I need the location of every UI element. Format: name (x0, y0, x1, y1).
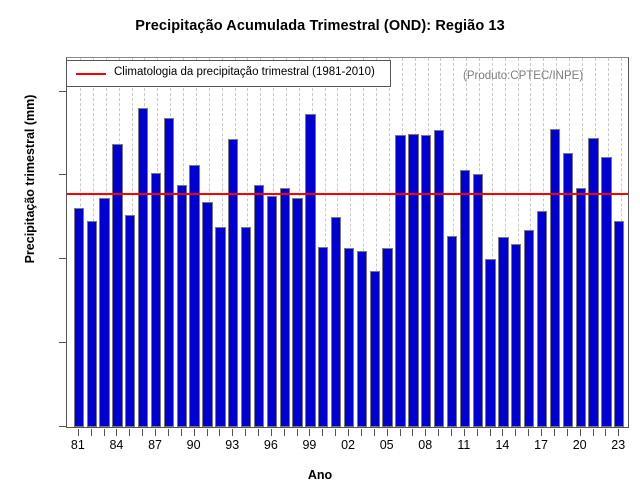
x-tick-mark (580, 429, 581, 436)
x-tick-mark (490, 429, 491, 436)
x-tick-label: 96 (251, 438, 291, 452)
y-tick-mark (59, 426, 66, 427)
x-tick-mark (361, 429, 362, 436)
x-tick-mark (477, 429, 478, 436)
x-tick-mark (258, 429, 259, 436)
x-tick-mark (425, 429, 426, 436)
x-tick-mark (155, 429, 156, 436)
x-tick-label: 05 (367, 438, 407, 452)
x-tick-mark (309, 429, 310, 436)
x-tick-mark (374, 429, 375, 436)
x-tick-mark (91, 429, 92, 436)
x-axis-title: Ano (0, 468, 640, 482)
x-tick-mark (387, 429, 388, 436)
climatology-reference-line (67, 193, 628, 195)
x-tick-mark (502, 429, 503, 436)
x-tick-mark (541, 429, 542, 436)
x-tick-label: 17 (521, 438, 561, 452)
x-tick-mark (168, 429, 169, 436)
x-tick-mark (400, 429, 401, 436)
x-tick-mark (412, 429, 413, 436)
x-tick-mark (528, 429, 529, 436)
x-tick-label: 08 (405, 438, 445, 452)
x-tick-mark (245, 429, 246, 436)
x-tick-label: 87 (135, 438, 175, 452)
producer-annotation: (Produto:CPTEC/INPE) (463, 70, 583, 82)
x-tick-label: 93 (212, 438, 252, 452)
x-tick-mark (116, 429, 117, 436)
x-tick-label: 20 (560, 438, 600, 452)
x-tick-mark (78, 429, 79, 436)
x-tick-label: 11 (444, 438, 484, 452)
y-axis-title: Precipitação trimestral (mm) (23, 29, 37, 329)
x-tick-label: 90 (174, 438, 214, 452)
y-tick-mark (59, 174, 66, 175)
x-tick-label: 02 (328, 438, 368, 452)
x-tick-mark (515, 429, 516, 436)
x-tick-mark (284, 429, 285, 436)
climatology-line-layer (67, 58, 628, 427)
x-tick-mark (335, 429, 336, 436)
y-tick-mark (59, 91, 66, 92)
x-tick-mark (142, 429, 143, 436)
y-tick-mark (59, 342, 66, 343)
x-tick-mark (593, 429, 594, 436)
chart-title: Precipitação Acumulada Trimestral (OND):… (0, 18, 640, 34)
x-tick-mark (464, 429, 465, 436)
x-tick-mark (567, 429, 568, 436)
x-tick-label: 99 (289, 438, 329, 452)
x-tick-mark (181, 429, 182, 436)
x-tick-mark (207, 429, 208, 436)
x-tick-label: 81 (58, 438, 98, 452)
x-tick-mark (322, 429, 323, 436)
precipitation-bar-chart: Precipitação Acumulada Trimestral (OND):… (0, 0, 640, 500)
x-tick-mark (605, 429, 606, 436)
x-tick-mark (129, 429, 130, 436)
x-tick-mark (219, 429, 220, 436)
x-tick-label: 23 (598, 438, 638, 452)
x-tick-mark (194, 429, 195, 436)
x-tick-mark (451, 429, 452, 436)
x-tick-mark (104, 429, 105, 436)
x-tick-mark (348, 429, 349, 436)
chart-legend: Climatologia da precipitação trimestral … (66, 60, 391, 87)
x-tick-mark (618, 429, 619, 436)
y-tick-mark (59, 258, 66, 259)
x-tick-label: 84 (96, 438, 136, 452)
x-tick-mark (438, 429, 439, 436)
plot-area (66, 57, 629, 428)
x-tick-label: 14 (482, 438, 522, 452)
x-tick-mark (271, 429, 272, 436)
x-tick-mark (232, 429, 233, 436)
x-tick-mark (554, 429, 555, 436)
legend-label: Climatologia da precipitação trimestral … (114, 66, 375, 78)
legend-line-swatch (76, 73, 106, 75)
x-tick-mark (297, 429, 298, 436)
